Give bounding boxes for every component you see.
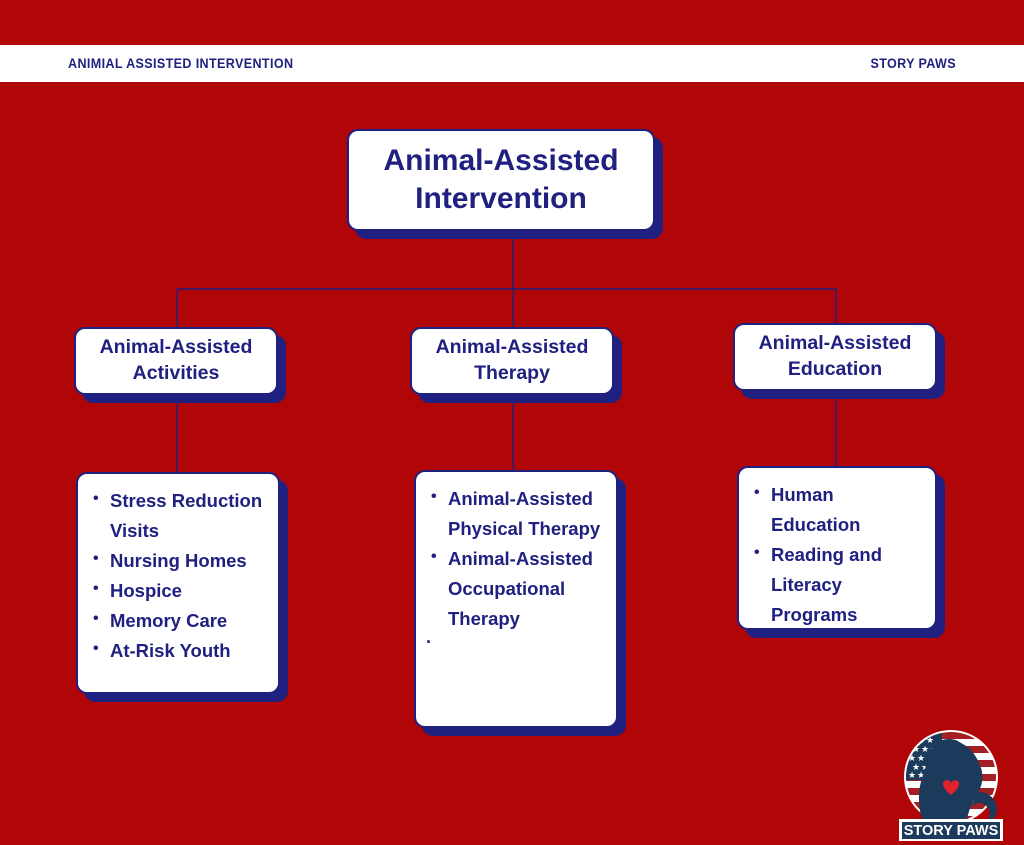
svg-text:★: ★ xyxy=(908,735,916,745)
list-item: Reading and Literacy Programs xyxy=(771,540,923,630)
bullet-list: Human Education Reading and Literacy Pro… xyxy=(745,480,923,630)
list-item: At-Risk Youth xyxy=(110,636,266,666)
bullet-list: Animal-Assisted Physical Therapy Animal-… xyxy=(422,484,604,634)
list-item: Nursing Homes xyxy=(110,546,266,576)
list-item: Hospice xyxy=(110,576,266,606)
logo-wordmark-text: STORY PAWS xyxy=(904,823,999,839)
svg-text:★: ★ xyxy=(908,770,916,780)
node-root[interactable]: Animal-Assisted Intervention xyxy=(347,129,655,231)
page-header: ANIMIAL ASSISTED INTERVENTION STORY PAWS xyxy=(0,45,1024,82)
node-branch-therapy[interactable]: Animal-Assisted Therapy xyxy=(410,327,614,395)
bullet-list: Stress Reduction Visits Nursing Homes Ho… xyxy=(84,486,266,666)
node-branch-activities[interactable]: Animal-Assisted Activities xyxy=(74,327,278,395)
list-box-therapy[interactable]: Animal-Assisted Physical Therapy Animal-… xyxy=(414,470,618,728)
story-paws-logo[interactable]: ★★★ ★★★ ★★★ ★★★ ★★★ xyxy=(887,727,1015,845)
list-item: Animal-Assisted Occupational Therapy xyxy=(448,544,604,634)
header-left-title: ANIMIAL ASSISTED INTERVENTION xyxy=(68,56,293,71)
diagram-canvas: Animal-Assisted Intervention Animal-Assi… xyxy=(0,82,1024,768)
list-box-education[interactable]: Human Education Reading and Literacy Pro… xyxy=(737,466,937,630)
node-branch-education[interactable]: Animal-Assisted Education xyxy=(733,323,937,391)
list-item: Stress Reduction Visits xyxy=(110,486,266,546)
list-item: Human Education xyxy=(771,480,923,540)
logo-wordmark: STORY PAWS xyxy=(899,819,1003,841)
list-item: Animal-Assisted Physical Therapy xyxy=(448,484,604,544)
header-right-title: STORY PAWS xyxy=(870,56,956,71)
stray-period-mark: . xyxy=(422,634,604,641)
list-item: Memory Care xyxy=(110,606,266,636)
list-box-activities[interactable]: Stress Reduction Visits Nursing Homes Ho… xyxy=(76,472,280,694)
